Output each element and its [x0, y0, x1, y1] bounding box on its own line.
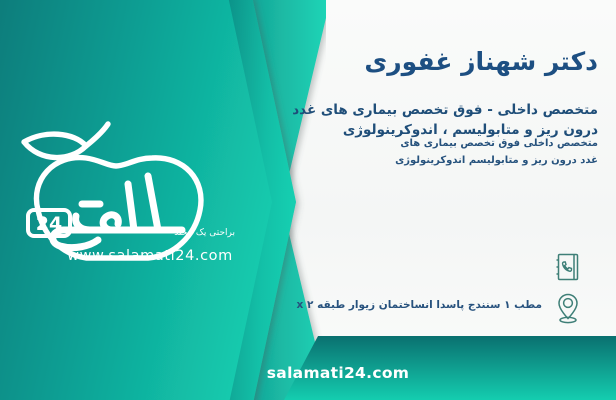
footer-url[interactable]: salamati24.com: [0, 364, 616, 382]
logo-tagline: براحتی یک لبخند: [95, 228, 235, 238]
doctor-name-title: دکتر شهناز غفوری: [178, 46, 598, 77]
specialty-sub-line-1: متخصص داخلی فوق تخصص بیماری های: [158, 136, 598, 153]
doctor-specialty-secondary: متخصص داخلی فوق تخصص بیماری های غدد درون…: [158, 136, 598, 169]
svg-text:24: 24: [36, 213, 62, 235]
footer-bar: salamati24.com: [0, 336, 616, 400]
phonebook-icon[interactable]: [554, 252, 582, 282]
specialty-line-1: متخصص داخلی - فوق تخصص بیماری های غدد: [158, 100, 598, 120]
logo-url: www.salamati24.com: [60, 248, 240, 264]
clinic-address: مطب ۱ سنندج پاسدا انساختمان زیوار طبقه ۲…: [162, 299, 542, 311]
map-pin-icon[interactable]: [554, 292, 582, 324]
doctor-specialty-primary: متخصص داخلی - فوق تخصص بیماری های غدد در…: [158, 100, 598, 141]
doctor-profile-card: 24 براحتی یک لبخند www.salamati24.com دک…: [0, 0, 616, 400]
specialty-sub-line-2: غدد درون ریز و متابولیسم اندوکرینولوژی: [158, 153, 598, 170]
